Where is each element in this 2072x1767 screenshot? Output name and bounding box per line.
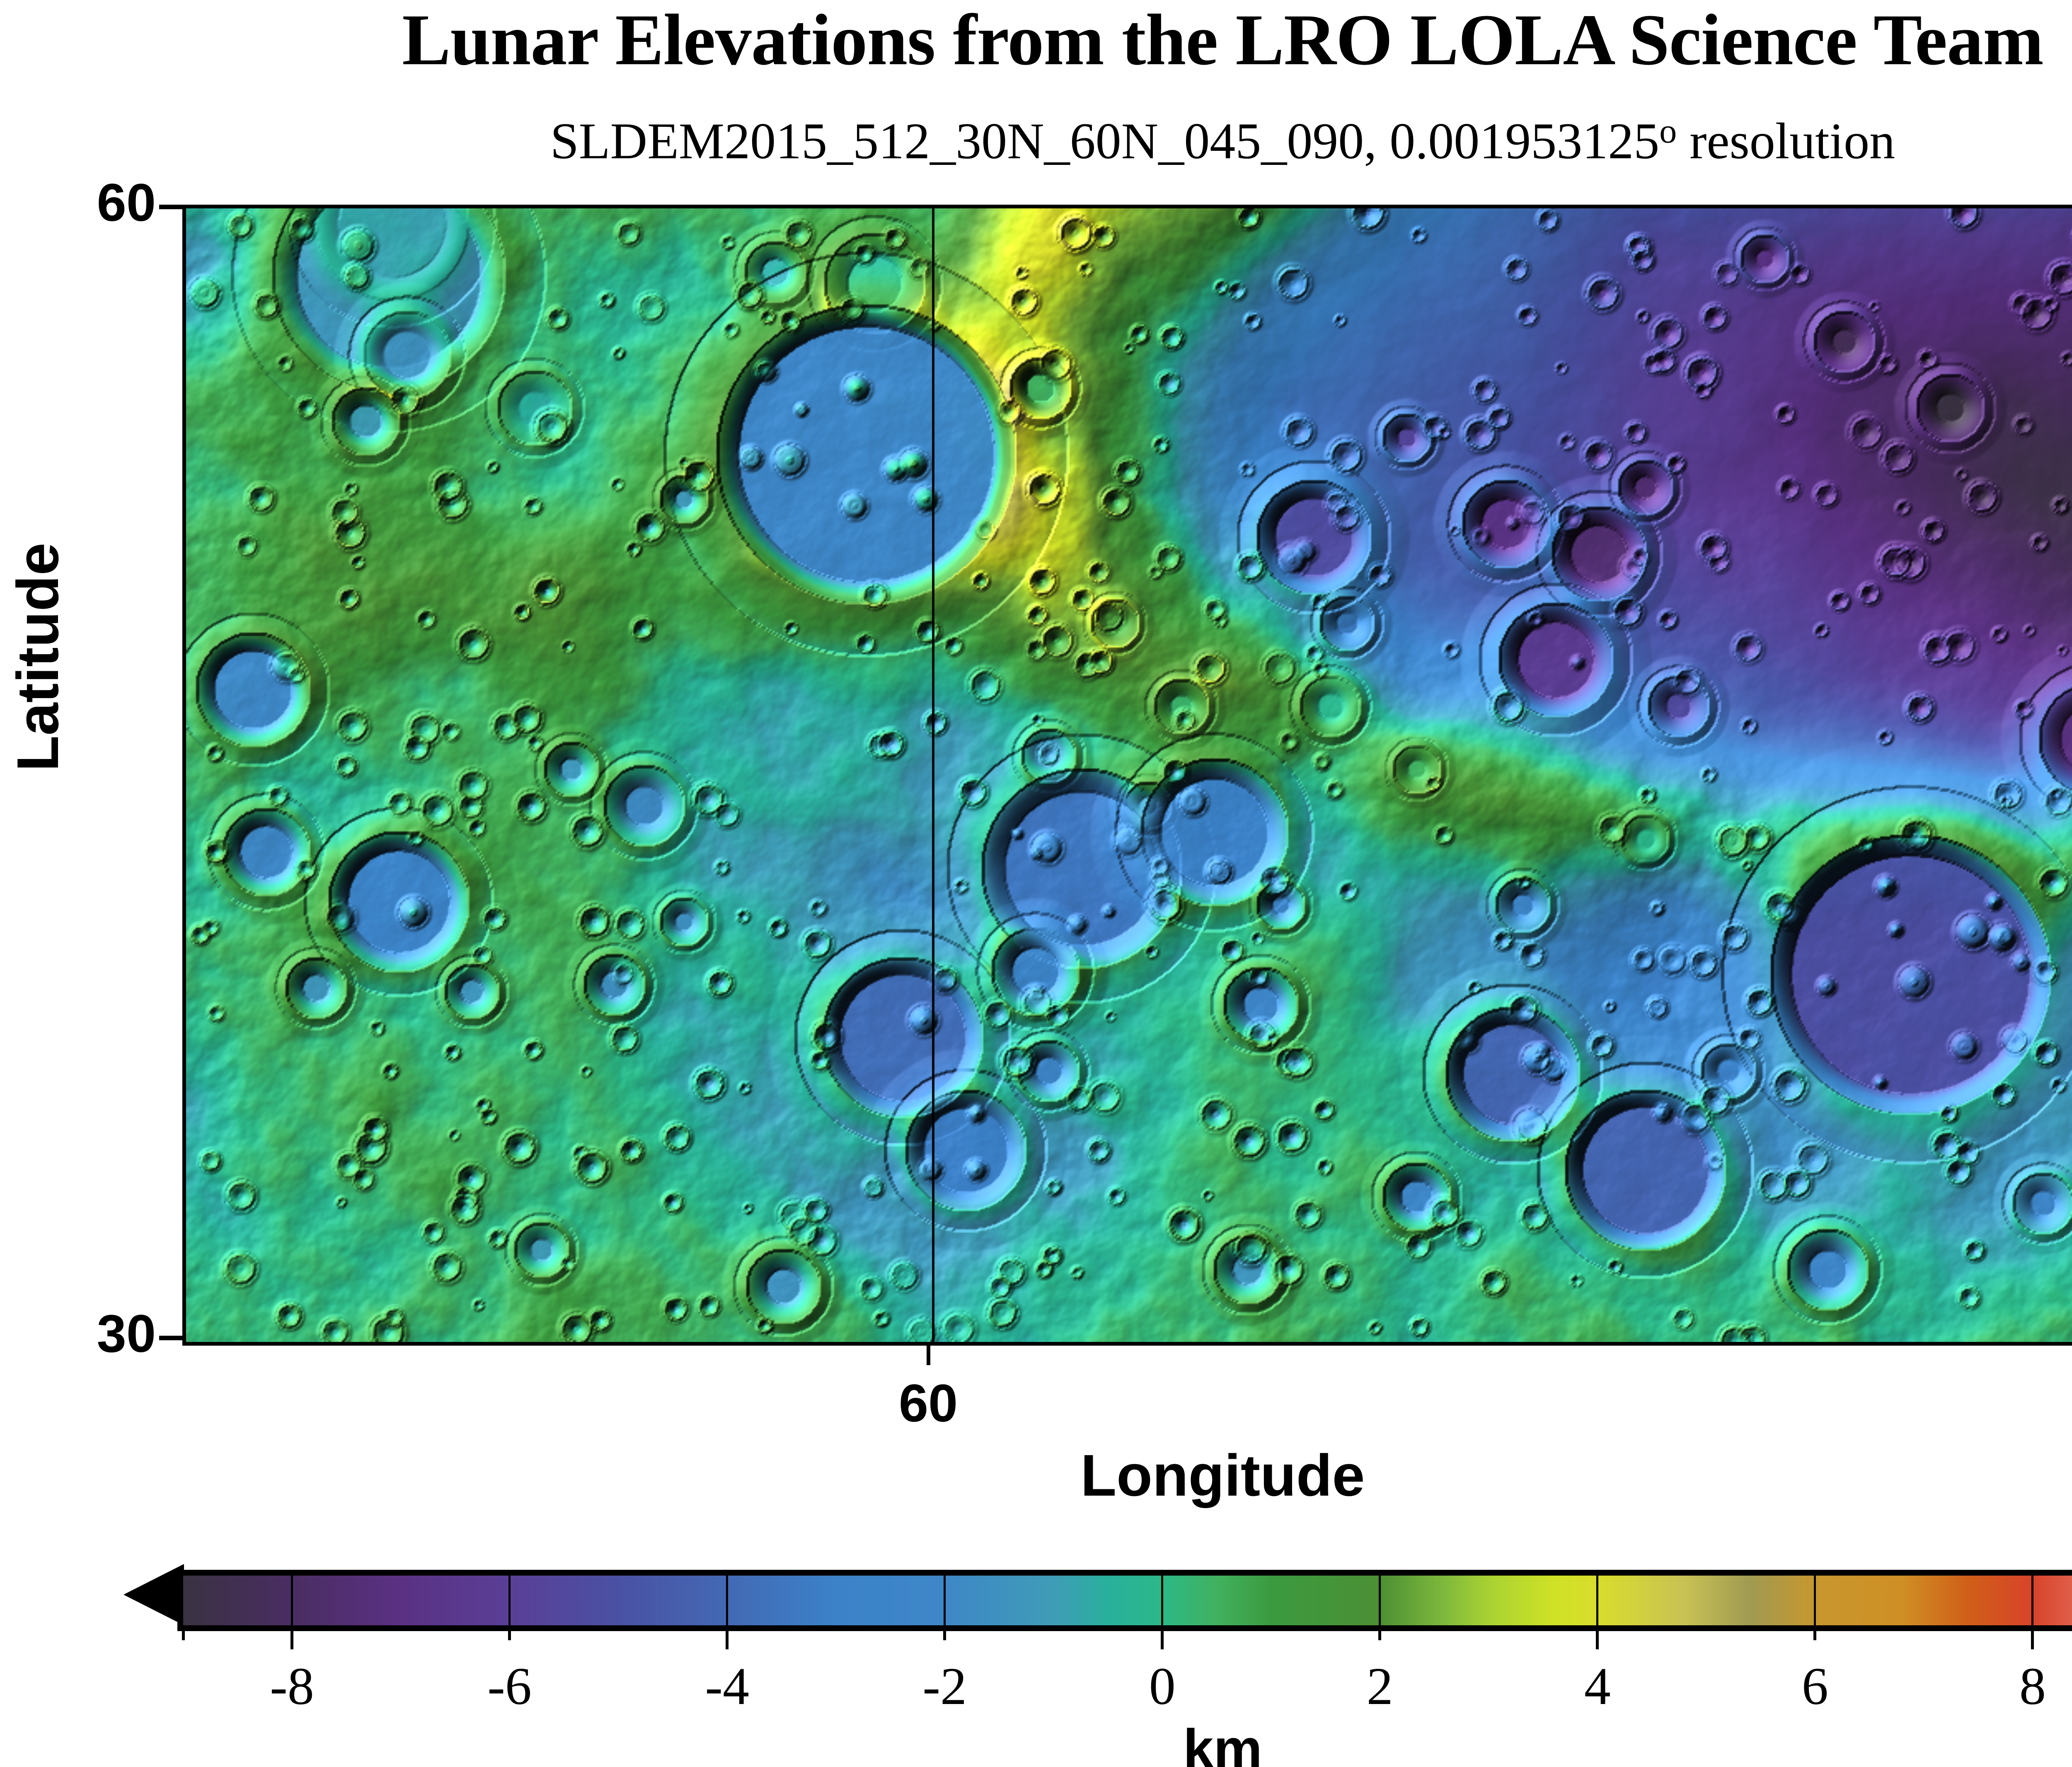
figure-title: Lunar Elevations from the LRO LOLA Scien…: [0, 0, 2072, 80]
colorbar-tick-label--4: -4: [640, 1656, 814, 1717]
subtitle-resolution-text: resolution: [1677, 113, 1895, 169]
colorbar-separator-2: [1379, 1576, 1381, 1625]
colorbar-tick-4: [1596, 1626, 1599, 1649]
colorbar-tick-label--2: -2: [858, 1656, 1032, 1717]
colorbar-separator-4: [1596, 1576, 1598, 1625]
colorbar-separator-6: [1814, 1576, 1816, 1625]
colorbar-tick--8: [290, 1626, 293, 1649]
colorbar-separator--6: [508, 1576, 511, 1625]
colorbar-tick-label-8: 8: [1946, 1656, 2072, 1717]
colorbar-separator--4: [726, 1576, 728, 1625]
x-axis-title: Longitude: [0, 1442, 2072, 1510]
elevation-map-panel[interactable]: [182, 205, 2072, 1346]
colorbar-separator-0: [1161, 1576, 1163, 1625]
colorbar-tick-label-2: 2: [1293, 1656, 1467, 1717]
colorbar-extend-min-arrow: [123, 1564, 184, 1625]
colorbar-tick-6: [1813, 1626, 1816, 1640]
colorbar-tick-label--6: -6: [423, 1656, 597, 1717]
degree-symbol: o: [1659, 112, 1677, 150]
colorbar-gradient-box[interactable]: [177, 1570, 2072, 1631]
colorbar-tick--4: [726, 1626, 729, 1649]
subtitle-dataset: SLDEM2015_512_30N_60N_045_090, 0.0019531…: [550, 113, 1659, 169]
colorbar-separator--8: [291, 1576, 293, 1625]
colorbar-separator-8: [2031, 1576, 2033, 1625]
colorbar[interactable]: km -8-6-4-20246810: [0, 1564, 2072, 1767]
colorbar-tick-label-4: 4: [1510, 1656, 1685, 1717]
y-axis-title: Latitude: [4, 543, 72, 771]
colorbar-tick-label-6: 6: [1728, 1656, 1902, 1717]
colorbar-tick-label-0: 0: [1075, 1656, 1249, 1717]
meridian-gridline-60: [932, 208, 934, 1342]
colorbar-tick--2: [943, 1626, 946, 1640]
y-tick-30: [159, 1336, 182, 1340]
colorbar-unit-label: km: [0, 1717, 2072, 1767]
colorbar-separator--2: [944, 1576, 946, 1625]
figure-root: Lunar Elevations from the LRO LOLA Scien…: [0, 0, 2072, 1767]
lunar-elevation-heatmap[interactable]: [186, 208, 2072, 1342]
colorbar-tick-8: [2031, 1626, 2034, 1649]
colorbar-tick-label--8: -8: [205, 1656, 379, 1717]
colorbar-tick-0: [1161, 1626, 1164, 1649]
colorbar-tick--6: [508, 1626, 511, 1640]
colorbar-tick-2: [1378, 1626, 1381, 1640]
y-tick-label-30: 30: [97, 1303, 156, 1364]
y-tick-label-60: 60: [97, 172, 156, 233]
x-tick-label-60: 60: [845, 1373, 1011, 1434]
colorbar-endtick-min: [182, 1626, 185, 1640]
figure-subtitle: SLDEM2015_512_30N_60N_045_090, 0.0019531…: [0, 111, 2072, 171]
y-tick-60: [159, 205, 182, 209]
colorbar-gradient: [183, 1576, 2072, 1625]
x-tick-60: [927, 1342, 930, 1365]
